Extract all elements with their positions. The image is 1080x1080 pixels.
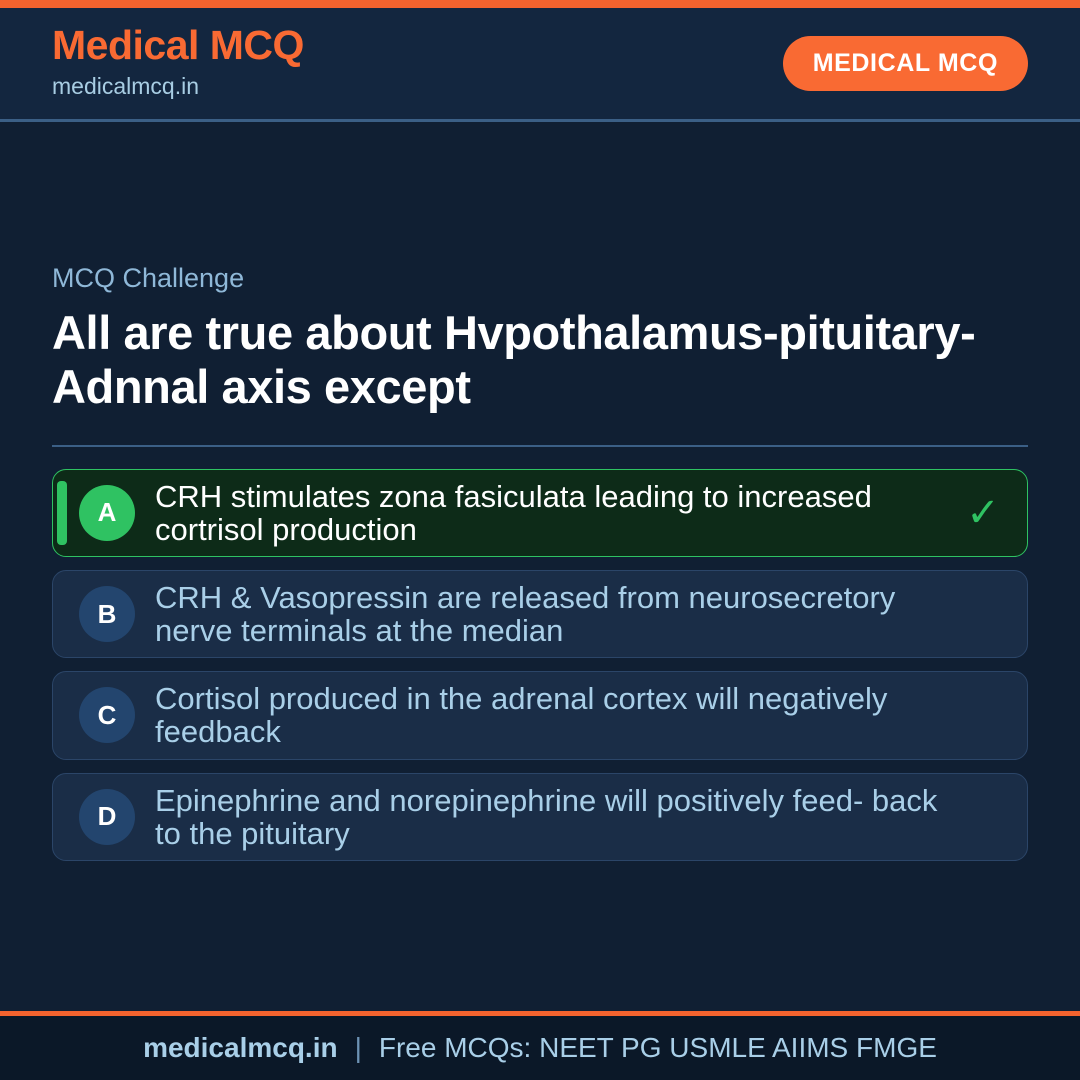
option-b[interactable]: B CRH & Vasopressin are released from ne… [52,570,1028,658]
footer-separator: | [355,1032,362,1064]
section-divider [52,445,1028,447]
option-b-text: CRH & Vasopressin are released from neur… [155,581,961,647]
brand-subtitle: medicalmcq.in [52,69,304,104]
brand-title: Medical MCQ [52,24,304,67]
page-footer: medicalmcq.in | Free MCQs: NEET PG USMLE… [0,1011,1080,1080]
option-b-badge: B [79,586,135,642]
option-a-text: CRH stimulates zona fasiculata leading t… [155,480,961,546]
option-c[interactable]: C Cortisol produced in the adrenal corte… [52,671,1028,759]
header-badge[interactable]: MEDICAL MCQ [783,36,1028,91]
option-d[interactable]: D Epinephrine and norepinephrine will po… [52,773,1028,861]
option-d-text: Epinephrine and norepinephrine will posi… [155,784,961,850]
option-d-badge: D [79,789,135,845]
options-list: A CRH stimulates zona fasiculata leading… [52,469,1028,861]
page-title: All are true about Hvpothalamus-pituitar… [52,306,982,412]
option-c-badge: C [79,687,135,743]
option-a[interactable]: A CRH stimulates zona fasiculata leading… [52,469,1028,557]
option-a-badge: A [79,485,135,541]
footer-site-label: medicalmcq.in [143,1032,338,1064]
main-content: MCQ Challenge All are true about Hvpotha… [0,122,1080,1011]
page-header: Medical MCQ medicalmcq.in MEDICAL MCQ [0,8,1080,122]
mcq-card: Medical MCQ medicalmcq.in MEDICAL MCQ MC… [0,0,1080,1080]
option-c-text: Cortisol produced in the adrenal cortex … [155,682,961,748]
top-accent-bar [0,0,1080,8]
brand-block: Medical MCQ medicalmcq.in [52,24,304,104]
check-icon: ✓ [961,493,1005,533]
question-block: MCQ Challenge All are true about Hvpotha… [52,262,1028,413]
eyebrow-label: MCQ Challenge [52,262,1028,294]
footer-tags-label: Free MCQs: NEET PG USMLE AIIMS FMGE [379,1032,937,1064]
